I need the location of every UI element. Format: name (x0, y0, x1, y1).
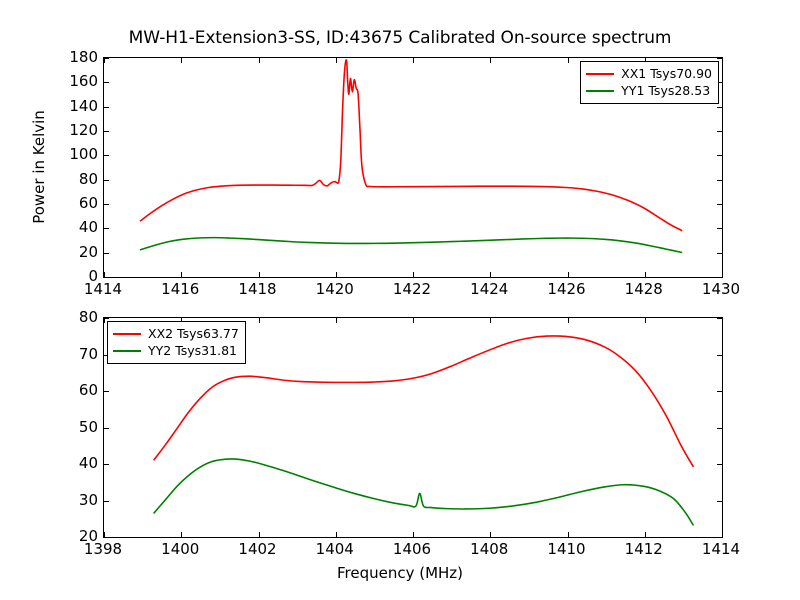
x-tick-label: 1420 (316, 280, 354, 298)
y-tick-label: 30 (79, 491, 98, 509)
x-tick-mark (104, 272, 105, 277)
y-tick-mark (104, 537, 109, 538)
x-tick-label: 1414 (84, 280, 122, 298)
x-tick-label: 1418 (238, 280, 276, 298)
x-tick-label: 1416 (161, 280, 199, 298)
y-tick-label: 140 (69, 97, 98, 115)
y-tick-mark (717, 253, 722, 254)
x-tick-label: 1426 (547, 280, 585, 298)
y-tick-mark (717, 501, 722, 502)
y-tick-mark (717, 537, 722, 538)
y-tick-mark (717, 277, 722, 278)
x-tick-label: 1398 (84, 540, 122, 558)
y-tick-label: 60 (79, 194, 98, 212)
y-tick-label: 100 (69, 145, 98, 163)
x-tick-label: 1402 (238, 540, 276, 558)
x-tick-mark (722, 272, 723, 277)
legend-bottom: XX2 Tsys63.77 YY2 Tsys31.81 (107, 321, 246, 364)
legend-label-yy2: YY2 Tsys31.81 (148, 343, 237, 358)
x-tick-label: 1406 (393, 540, 431, 558)
y-tick-mark (104, 228, 109, 229)
y-tick-label: 80 (79, 170, 98, 188)
x-tick-mark (568, 272, 569, 277)
x-tick-mark (181, 58, 182, 63)
y-tick-mark (717, 228, 722, 229)
x-tick-mark (336, 58, 337, 63)
x-tick-mark (259, 532, 260, 537)
x-tick-mark (722, 318, 723, 323)
x-tick-mark (490, 58, 491, 63)
x-tick-mark (568, 318, 569, 323)
series-line (141, 238, 682, 253)
y-tick-mark (717, 391, 722, 392)
legend-swatch-xx1 (586, 73, 614, 75)
legend-label-xx1: XX1 Tsys70.90 (621, 66, 712, 81)
y-tick-label: 160 (69, 72, 98, 90)
x-tick-mark (490, 272, 491, 277)
x-tick-label: 1428 (625, 280, 663, 298)
y-tick-label: 50 (79, 418, 98, 436)
y-tick-mark (717, 464, 722, 465)
x-tick-label: 1430 (702, 280, 740, 298)
y-tick-label: 70 (79, 345, 98, 363)
y-tick-mark (717, 428, 722, 429)
x-tick-mark (645, 532, 646, 537)
x-tick-mark (645, 272, 646, 277)
y-tick-label: 20 (79, 243, 98, 261)
y-tick-mark (104, 204, 109, 205)
legend-swatch-yy2 (113, 350, 141, 352)
x-tick-mark (104, 532, 105, 537)
x-tick-mark (413, 532, 414, 537)
x-tick-mark (568, 58, 569, 63)
x-tick-label: 1404 (316, 540, 354, 558)
x-tick-mark (336, 272, 337, 277)
bottom-plot-axes: XX2 Tsys63.77 YY2 Tsys31.81 (103, 317, 723, 538)
x-tick-mark (259, 272, 260, 277)
x-tick-mark (413, 272, 414, 277)
y-tick-mark (104, 501, 109, 502)
x-tick-mark (413, 318, 414, 323)
x-tick-label: 1414 (702, 540, 740, 558)
x-tick-mark (181, 272, 182, 277)
y-tick-mark (104, 82, 109, 83)
y-tick-mark (104, 155, 109, 156)
x-axis-label: Frequency (MHz) (0, 564, 800, 582)
y-tick-mark (104, 277, 109, 278)
x-tick-label: 1424 (470, 280, 508, 298)
x-tick-label: 1422 (393, 280, 431, 298)
y-tick-label: 120 (69, 121, 98, 139)
legend-item: XX1 Tsys70.90 (586, 65, 712, 82)
y-tick-label: 40 (79, 454, 98, 472)
y-tick-mark (104, 391, 109, 392)
x-tick-mark (259, 318, 260, 323)
y-tick-mark (104, 180, 109, 181)
y-tick-mark (717, 355, 722, 356)
legend-label-yy1: YY1 Tsys28.53 (621, 83, 710, 98)
y-tick-label: 180 (69, 48, 98, 66)
x-tick-mark (104, 58, 105, 63)
x-tick-mark (259, 58, 260, 63)
x-tick-mark (336, 532, 337, 537)
x-tick-mark (490, 318, 491, 323)
y-tick-mark (717, 155, 722, 156)
legend-item: XX2 Tsys63.77 (113, 325, 239, 342)
y-tick-label: 40 (79, 218, 98, 236)
y-tick-label: 80 (79, 308, 98, 326)
y-tick-mark (717, 180, 722, 181)
legend-item: YY2 Tsys31.81 (113, 342, 239, 359)
y-tick-mark (717, 131, 722, 132)
x-tick-mark (181, 532, 182, 537)
y-tick-mark (104, 428, 109, 429)
y-tick-mark (104, 107, 109, 108)
legend-item: YY1 Tsys28.53 (586, 82, 712, 99)
x-tick-mark (722, 58, 723, 63)
x-tick-mark (104, 318, 105, 323)
x-tick-mark (645, 318, 646, 323)
x-tick-mark (568, 532, 569, 537)
y-tick-mark (717, 204, 722, 205)
y-tick-mark (104, 253, 109, 254)
y-tick-label: 60 (79, 381, 98, 399)
x-tick-label: 1400 (161, 540, 199, 558)
series-line (154, 459, 693, 525)
x-tick-label: 1412 (625, 540, 663, 558)
figure-canvas: MW-H1-Extension3-SS, ID:43675 Calibrated… (0, 0, 800, 600)
top-plot-axes: XX1 Tsys70.90 YY1 Tsys28.53 (103, 57, 723, 278)
legend-swatch-xx2 (113, 333, 141, 335)
y-tick-mark (104, 131, 109, 132)
x-tick-mark (490, 532, 491, 537)
x-tick-mark (722, 532, 723, 537)
legend-label-xx2: XX2 Tsys63.77 (148, 326, 239, 341)
x-tick-label: 1410 (547, 540, 585, 558)
legend-top: XX1 Tsys70.90 YY1 Tsys28.53 (580, 61, 719, 104)
page-title: MW-H1-Extension3-SS, ID:43675 Calibrated… (0, 28, 800, 48)
y-tick-mark (717, 107, 722, 108)
x-tick-mark (336, 318, 337, 323)
legend-swatch-yy1 (586, 90, 614, 92)
x-tick-label: 1408 (470, 540, 508, 558)
x-tick-mark (413, 58, 414, 63)
y-tick-mark (104, 464, 109, 465)
y-axis-label-top: Power in Kelvin (30, 110, 48, 224)
